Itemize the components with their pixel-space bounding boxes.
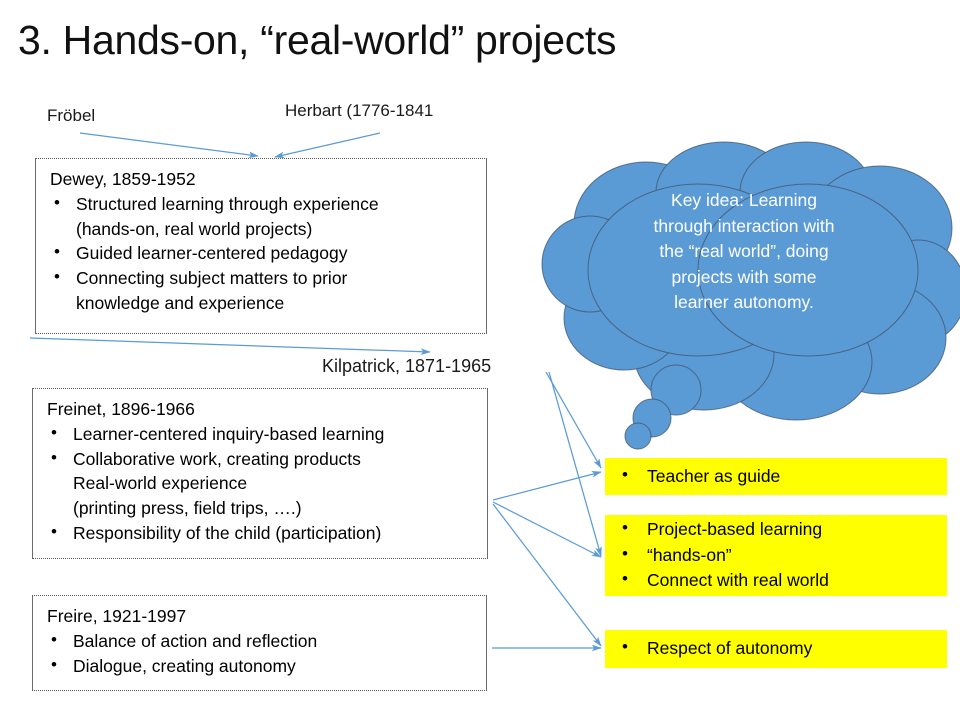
highlight-list: Teacher as guide — [605, 464, 947, 489]
connector-frobel-to-dewey — [80, 133, 258, 156]
connector-dewey-to-kilpatrick — [30, 338, 430, 352]
author-box-heading: Dewey, 1859-1952 — [50, 167, 476, 191]
list-item: Respect of autonomy — [605, 636, 947, 661]
page-title: 3. Hands-on, “real-world” projects — [18, 18, 938, 64]
author-box-heading: Freire, 1921-1997 — [47, 604, 476, 628]
list-item: Connect with real world — [605, 568, 947, 593]
slide-canvas: 3. Hands-on, “real-world” projects Fröbe… — [0, 0, 960, 720]
label-herbart: Herbart (1776-1841 — [285, 101, 433, 121]
author-box-heading: Freinet, 1896-1966 — [47, 397, 477, 421]
list-item: Responsibility of the child (participati… — [43, 521, 477, 546]
list-item: Dialogue, creating autonomy — [43, 654, 476, 679]
list-item: Balance of action and reflection — [43, 629, 476, 654]
list-item: Structured learning through experience — [46, 192, 476, 217]
connector-herbart-to-dewey — [275, 133, 380, 157]
list-item: Real-world experience — [43, 471, 477, 496]
author-box-dewey: Dewey, 1859-1952 Structured learning thr… — [35, 158, 487, 334]
highlight-box-project-based-learning: Project-based learning “hands-on” Connec… — [605, 515, 947, 596]
list-item: “hands-on” — [605, 543, 947, 568]
list-item: Connecting subject matters to prior — [46, 266, 476, 291]
author-box-list: Balance of action and reflection Dialogu… — [43, 629, 476, 678]
author-box-freinet: Freinet, 1896-1966 Learner-centered inqu… — [32, 388, 488, 559]
connector-freinet-to-project-based-learning — [493, 502, 601, 557]
connector-freinet-to-teacher-as-guide — [493, 472, 601, 500]
author-box-freire: Freire, 1921-1997 Balance of action and … — [32, 595, 487, 691]
list-item: (hands-on, real world projects) — [46, 217, 476, 242]
list-item: Guided learner-centered pedagogy — [46, 241, 476, 266]
author-box-list: Learner-centered inquiry-based learning … — [43, 422, 477, 545]
label-frobel: Fröbel — [47, 106, 95, 126]
list-item: knowledge and experience — [46, 291, 476, 316]
thought-cloud-text: Key idea: Learning through interaction w… — [584, 188, 904, 316]
list-item: Collaborative work, creating products — [43, 447, 477, 472]
highlight-list: Project-based learning “hands-on” Connec… — [605, 517, 947, 593]
thought-cloud: Key idea: Learning through interaction w… — [528, 140, 960, 436]
connector-freinet-to-respect-of-autonomy — [493, 504, 601, 646]
list-item: Learner-centered inquiry-based learning — [43, 422, 477, 447]
list-item: Project-based learning — [605, 517, 947, 542]
highlight-box-respect-of-autonomy: Respect of autonomy — [605, 630, 947, 668]
list-item: (printing press, field trips, ….) — [43, 496, 477, 521]
label-kilpatrick: Kilpatrick, 1871-1965 — [322, 356, 491, 378]
author-box-list: Structured learning through experience (… — [46, 192, 476, 315]
highlight-box-teacher-as-guide: Teacher as guide — [605, 458, 947, 495]
list-item: Teacher as guide — [605, 464, 947, 489]
highlight-list: Respect of autonomy — [605, 636, 947, 661]
